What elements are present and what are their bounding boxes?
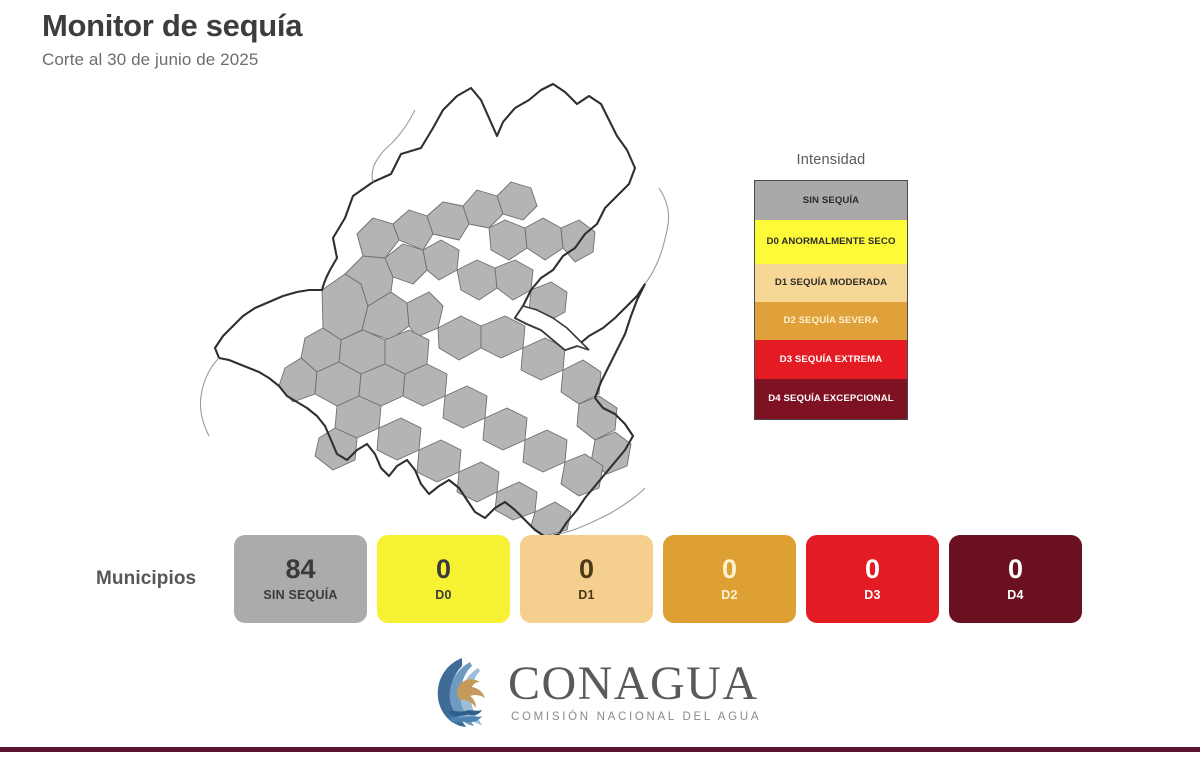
municipios-card-value: 0 — [436, 556, 451, 583]
municipios-card-value: 0 — [1008, 556, 1023, 583]
intensity-legend: Intensidad SIN SEQUÍAD0 ANORMALMENTE SEC… — [754, 152, 908, 420]
eagle-water-icon — [432, 654, 494, 730]
page-header: Monitor de sequía Corte al 30 de junio d… — [42, 8, 302, 70]
municipios-card[interactable]: 0D0 — [377, 535, 510, 623]
municipios-card-label: D4 — [1007, 588, 1023, 602]
municipios-card[interactable]: 0D1 — [520, 535, 653, 623]
municipios-label: Municipios — [96, 568, 234, 590]
drought-map-jalisco — [185, 78, 685, 538]
river-trace-southwest — [200, 358, 219, 436]
map-municipality-polygons — [279, 182, 631, 536]
municipios-card-label: SIN SEQUÍA — [263, 588, 337, 602]
legend-band-list: SIN SEQUÍAD0 ANORMALMENTE SECOD1 SEQUÍA … — [754, 180, 908, 420]
page-title: Monitor de sequía — [42, 8, 302, 44]
municipios-card-label: D1 — [578, 588, 594, 602]
river-trace-southeast — [559, 488, 645, 534]
legend-title: Intensidad — [754, 152, 908, 168]
municipios-card-list: 84SIN SEQUÍA0D00D10D20D30D4 — [234, 535, 1082, 623]
municipios-card-value: 84 — [285, 556, 315, 583]
river-trace-east — [645, 188, 669, 284]
municipios-card[interactable]: 0D2 — [663, 535, 796, 623]
bottom-accent-bar — [0, 747, 1200, 752]
municipios-card-label: D0 — [435, 588, 451, 602]
municipios-card-label: D2 — [721, 588, 737, 602]
conagua-wordmark: CONAGUA — [508, 661, 761, 707]
municipios-card-label: D3 — [864, 588, 880, 602]
map-svg — [185, 78, 685, 538]
conagua-logo: CONAGUA COMISIÓN NACIONAL DEL AGUA — [432, 654, 761, 730]
legend-band: D3 SEQUÍA EXTREMA — [755, 340, 907, 379]
municipios-card-value: 0 — [579, 556, 594, 583]
legend-band: D1 SEQUÍA MODERADA — [755, 264, 907, 302]
municipios-card[interactable]: 0D4 — [949, 535, 1082, 623]
municipios-card-value: 0 — [865, 556, 880, 583]
conagua-logo-mark-icon — [432, 654, 494, 730]
conagua-logo-text: CONAGUA COMISIÓN NACIONAL DEL AGUA — [508, 661, 761, 724]
conagua-tagline: COMISIÓN NACIONAL DEL AGUA — [508, 711, 761, 723]
legend-band: D4 SEQUÍA EXCEPCIONAL — [755, 379, 907, 419]
municipios-summary: Municipios 84SIN SEQUÍA0D00D10D20D30D4 — [96, 533, 1036, 625]
municipios-card[interactable]: 0D3 — [806, 535, 939, 623]
legend-band: D2 SEQUÍA SEVERA — [755, 302, 907, 340]
legend-band: D0 ANORMALMENTE SECO — [755, 220, 907, 264]
municipios-card[interactable]: 84SIN SEQUÍA — [234, 535, 367, 623]
municipios-card-value: 0 — [722, 556, 737, 583]
page-subtitle: Corte al 30 de junio de 2025 — [42, 50, 302, 70]
legend-band: SIN SEQUÍA — [755, 181, 907, 220]
